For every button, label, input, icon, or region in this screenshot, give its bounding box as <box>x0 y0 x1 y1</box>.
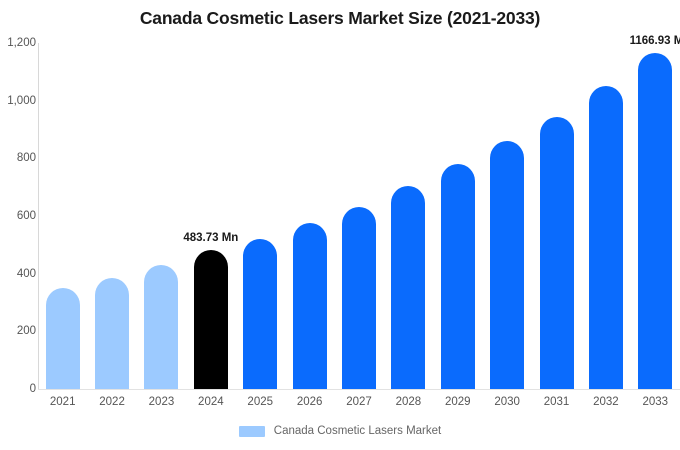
bar-group-2030[interactable] <box>490 43 524 389</box>
y-axis-tick-label: 1,000 <box>2 95 36 107</box>
bar-2026[interactable] <box>293 223 327 389</box>
x-axis-tick-label-2027: 2027 <box>335 396 383 408</box>
x-axis-tick-label-2029: 2029 <box>434 396 482 408</box>
x-axis-tick-label-2026: 2026 <box>286 396 334 408</box>
bar-group-2027[interactable] <box>342 43 376 389</box>
bar-2030[interactable] <box>490 141 524 389</box>
y-axis-tick-label: 600 <box>2 210 36 222</box>
bar-group-2023[interactable] <box>144 43 178 389</box>
y-axis-tick-label: 800 <box>2 152 36 164</box>
bar-2025[interactable] <box>243 239 277 389</box>
bar-2032[interactable] <box>589 86 623 389</box>
x-axis-line <box>38 389 680 390</box>
bar-group-2026[interactable] <box>293 43 327 389</box>
bar-2023[interactable] <box>144 265 178 389</box>
bar-2033[interactable] <box>638 53 672 389</box>
bar-2031[interactable] <box>540 117 574 389</box>
x-axis-tick-label-2022: 2022 <box>88 396 136 408</box>
bar-2021[interactable] <box>46 288 80 389</box>
chart-legend: Canada Cosmetic Lasers Market <box>0 425 680 437</box>
legend-label-canada-cosmetic-lasers-market: Canada Cosmetic Lasers Market <box>274 425 441 437</box>
bar-value-label-2033: 1166.93 Mn <box>630 35 680 47</box>
x-axis-tick-label-2033: 2033 <box>631 396 679 408</box>
x-axis-tick-label-2023: 2023 <box>137 396 185 408</box>
y-axis-tick-label: 1,200 <box>2 37 36 49</box>
bar-2024[interactable] <box>194 250 228 389</box>
bar-group-2025[interactable] <box>243 43 277 389</box>
legend-swatch-canada-cosmetic-lasers-market <box>239 426 265 437</box>
x-axis-tick-label-2030: 2030 <box>483 396 531 408</box>
plot-area: 483.73 Mn1166.93 Mn <box>38 43 680 389</box>
y-axis-tick-label: 400 <box>2 268 36 280</box>
bar-group-2024[interactable]: 483.73 Mn <box>194 43 228 389</box>
bar-group-2022[interactable] <box>95 43 129 389</box>
bar-group-2032[interactable] <box>589 43 623 389</box>
x-axis-tick-label-2021: 2021 <box>39 396 87 408</box>
bar-group-2033[interactable]: 1166.93 Mn <box>638 43 672 389</box>
bar-chart: Canada Cosmetic Lasers Market Size (2021… <box>0 0 680 450</box>
x-axis-tick-label-2024: 2024 <box>187 396 235 408</box>
x-axis-tick-label-2025: 2025 <box>236 396 284 408</box>
y-axis: 02004006008001,0001,200 <box>0 43 36 389</box>
chart-title: Canada Cosmetic Lasers Market Size (2021… <box>0 8 680 29</box>
bar-2022[interactable] <box>95 278 129 389</box>
x-axis-tick-label-2028: 2028 <box>384 396 432 408</box>
y-axis-tick-label: 0 <box>2 383 36 395</box>
bar-2027[interactable] <box>342 207 376 389</box>
x-axis-tick-label-2032: 2032 <box>582 396 630 408</box>
bar-group-2029[interactable] <box>441 43 475 389</box>
bar-value-label-2024: 483.73 Mn <box>183 232 238 244</box>
bar-group-2031[interactable] <box>540 43 574 389</box>
x-axis-tick-label-2031: 2031 <box>533 396 581 408</box>
bar-group-2028[interactable] <box>391 43 425 389</box>
y-axis-tick-label: 200 <box>2 325 36 337</box>
bar-2028[interactable] <box>391 186 425 389</box>
bar-group-2021[interactable] <box>46 43 80 389</box>
bar-2029[interactable] <box>441 164 475 389</box>
